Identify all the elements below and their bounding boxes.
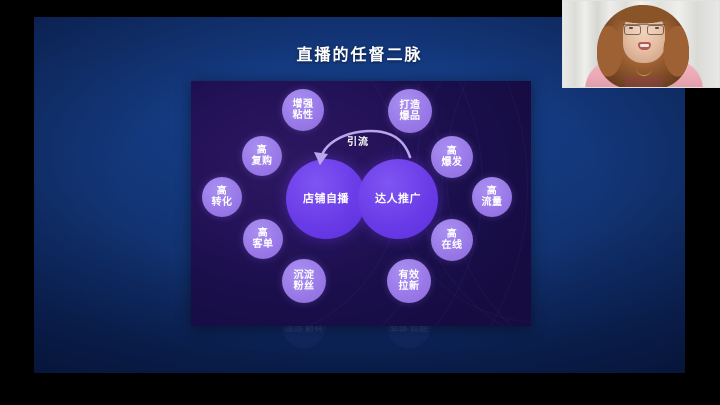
satellite-label-line2: 客单 <box>253 239 274 250</box>
satellite-node-high-unit-price[interactable]: 高 客单 <box>243 219 283 259</box>
diagram-panel: 店铺自播 达人推广 引流 增强 粘性 高 复购 <box>191 81 531 326</box>
satellite-label-line1: 高 <box>253 228 274 239</box>
satellite-label-line2: 复购 <box>252 156 273 167</box>
satellite-node-high-explosion[interactable]: 高 爆发 <box>431 136 473 178</box>
diagram-reflection: 沉淀 粉丝 有效 拉新 <box>191 326 531 373</box>
main-node-store-self-broadcast[interactable]: 店铺自播 <box>286 159 366 239</box>
screen-capture: 直播的任督二脉 店铺自播 达人推广 引流 <box>0 0 720 405</box>
main-node-label: 达人推广 <box>375 193 421 205</box>
main-node-influencer-promotion[interactable]: 达人推广 <box>358 159 438 239</box>
reflection-label-line1: 有效 <box>390 326 408 332</box>
satellite-label-line1: 增强 <box>293 99 314 110</box>
webcam-face <box>623 11 665 63</box>
satellite-label-line1: 高 <box>482 186 503 197</box>
satellite-label-line2: 爆发 <box>442 157 463 168</box>
satellite-label-line2: 拉新 <box>399 281 420 292</box>
satellite-label-line2: 粉丝 <box>294 281 315 292</box>
main-node-label: 店铺自播 <box>303 193 349 205</box>
satellite-label-line1: 有效 <box>399 270 420 281</box>
reflection-label-line2: 拉新 <box>410 326 428 332</box>
satellite-label-line1: 高 <box>442 146 463 157</box>
webcam-shirt-print <box>625 77 663 87</box>
satellite-node-create-hot-product[interactable]: 打造 爆品 <box>388 89 432 133</box>
reflection-circle-effective-new-user: 有效 拉新 <box>387 326 431 348</box>
satellite-label-line1: 高 <box>252 145 273 156</box>
reflection-label-line2: 粉丝 <box>305 326 323 332</box>
satellite-label-line2: 爆品 <box>400 111 421 122</box>
satellite-label-line1: 打造 <box>400 100 421 111</box>
satellite-node-high-traffic[interactable]: 高 流量 <box>472 177 512 217</box>
satellite-label-line1: 高 <box>212 186 233 197</box>
satellite-node-enhance-stickiness[interactable]: 增强 粘性 <box>282 89 324 131</box>
satellite-label-line2: 转化 <box>212 197 233 208</box>
flow-label: 引流 <box>347 133 369 148</box>
satellite-node-high-online[interactable]: 高 在线 <box>431 219 473 261</box>
satellite-label-line1: 沉淀 <box>294 270 315 281</box>
reflection-label-line1: 沉淀 <box>285 326 303 332</box>
reflection-circle-accumulate-fans: 沉淀 粉丝 <box>282 326 326 348</box>
satellite-label-line2: 在线 <box>442 240 463 251</box>
satellite-label-line2: 流量 <box>482 197 503 208</box>
satellite-label-line2: 粘性 <box>293 110 314 121</box>
satellite-node-high-conversion[interactable]: 高 转化 <box>202 177 242 217</box>
satellite-node-effective-new-user[interactable]: 有效 拉新 <box>387 259 431 303</box>
satellite-node-high-repurchase[interactable]: 高 复购 <box>242 136 282 176</box>
satellite-label-line1: 高 <box>442 229 463 240</box>
satellite-node-accumulate-fans[interactable]: 沉淀 粉丝 <box>282 259 326 303</box>
glasses-icon <box>623 24 665 34</box>
presenter-webcam-overlay[interactable] <box>562 0 720 88</box>
